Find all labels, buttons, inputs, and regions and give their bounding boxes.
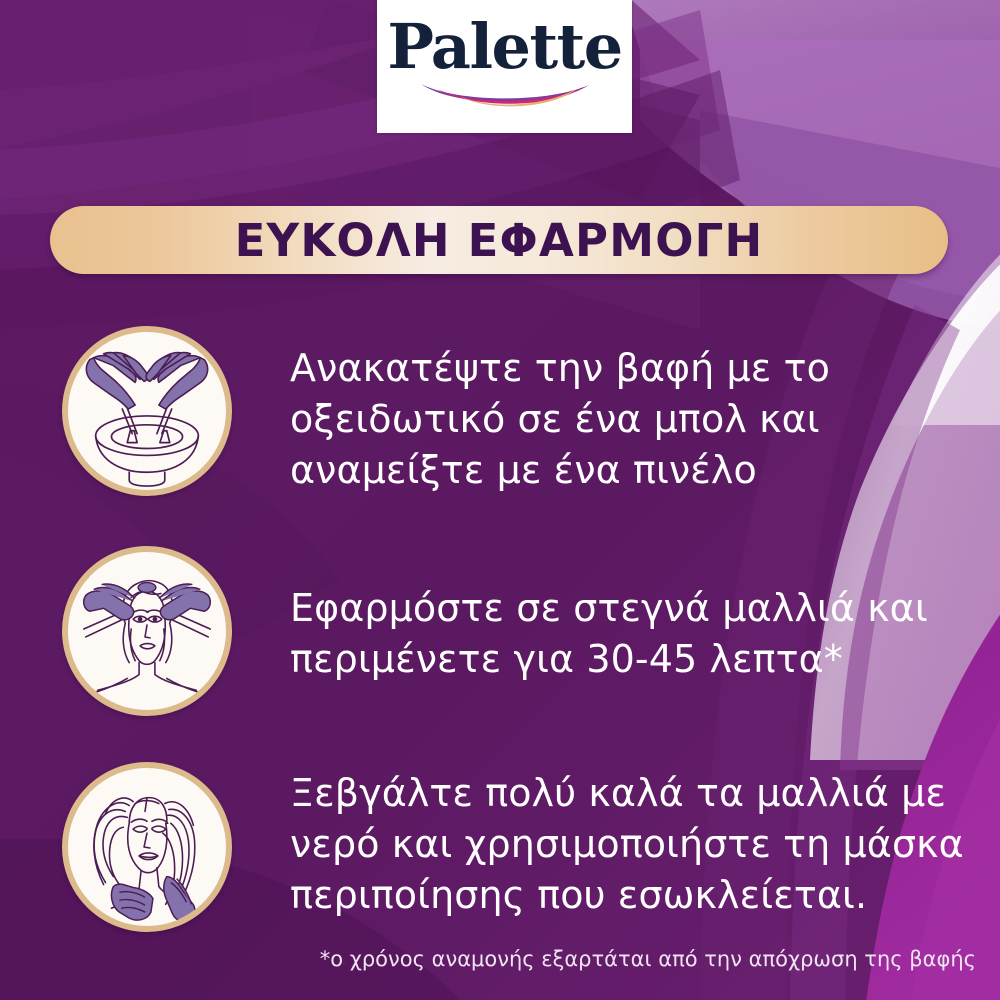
footnote: *ο χρόνος αναμονής εξαρτάται από την από… <box>320 946 976 972</box>
step-3-text: Ξεβγάλτε πολύ καλά τα μαλλιά με νερό και… <box>290 768 980 921</box>
gloved-hands-mixing-bowl-icon <box>62 326 232 496</box>
step-1-text: Ανακατέψτε την βαφή με το οξειδωτικό σε … <box>290 343 930 496</box>
step-2-text: Εφαρμόστε σε στεγνά μαλλιά και περιμένετ… <box>290 583 970 685</box>
step-2: Εφαρμόστε σε στεγνά μαλλιά και περιμένετ… <box>62 546 970 716</box>
step-1: Ανακατέψτε την βαφή με το οξειδωτικό σε … <box>62 326 930 496</box>
instruction-steps: Ανακατέψτε την βαφή με το οξειδωτικό σε … <box>0 0 1000 1000</box>
woman-rinsing-hair-icon <box>62 762 232 932</box>
gloved-hands-applying-to-hair-icon <box>62 546 232 716</box>
step-3: Ξεβγάλτε πολύ καλά τα μαλλιά με νερό και… <box>62 762 980 932</box>
